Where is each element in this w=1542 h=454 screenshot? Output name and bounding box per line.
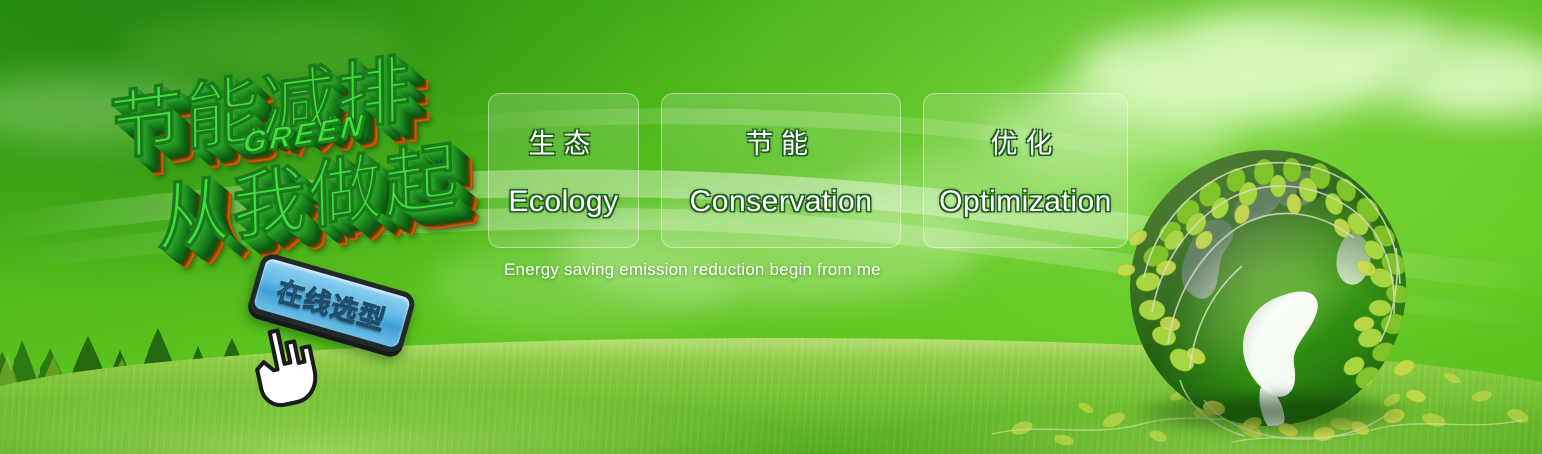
globe-ground-shadow xyxy=(1136,390,1408,434)
feature-card-optimization-en: Optimization xyxy=(939,185,1112,219)
cloud-right-3 xyxy=(1330,28,1542,112)
feature-card-optimization[interactable]: 优化 Optimization xyxy=(923,93,1128,248)
cloud-right-5 xyxy=(1420,60,1542,120)
feature-card-conservation-en: Conservation xyxy=(690,185,873,219)
feature-card-optimization-cn: 优化 xyxy=(991,122,1061,161)
feature-card-list: 生态 Ecology 节能 Conservation 优化 Optimizati… xyxy=(488,93,1128,248)
feature-card-ecology[interactable]: 生态 Ecology xyxy=(488,93,639,248)
feature-card-conservation-cn: 节能 xyxy=(746,122,816,161)
hand-pointer-icon xyxy=(247,324,321,408)
green-earth-globe xyxy=(1108,128,1428,448)
feature-card-ecology-cn: 生态 xyxy=(529,122,599,161)
banner-subtitle: Energy saving emission reduction begin f… xyxy=(504,260,881,280)
headline-line-2-text: 从我做起 xyxy=(155,133,460,261)
cloud-right-2 xyxy=(1190,4,1440,74)
feature-card-conservation[interactable]: 节能 Conservation xyxy=(661,93,901,248)
eco-hero-banner: 节能减排 GREEN 从我做起 在线选型 生态 Ecology 节能 Conse… xyxy=(0,0,1542,454)
feature-card-ecology-en: Ecology xyxy=(508,185,618,219)
